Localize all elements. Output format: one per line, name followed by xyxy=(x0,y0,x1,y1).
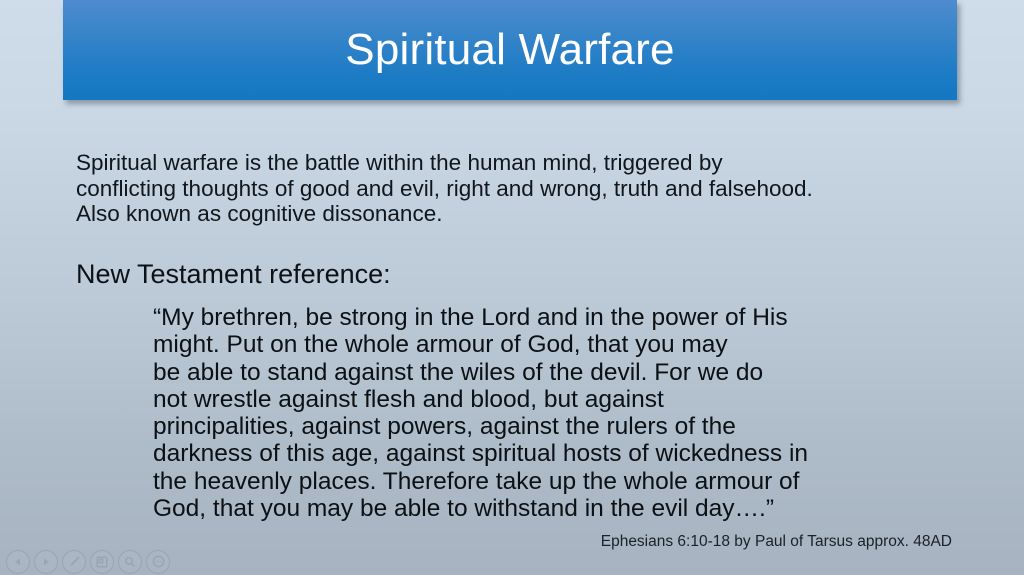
reference-heading: New Testament reference: xyxy=(76,258,391,290)
all-slides-button[interactable] xyxy=(90,550,114,574)
pen-icon xyxy=(68,555,81,568)
ellipsis-icon xyxy=(152,555,165,568)
pen-tool-button[interactable] xyxy=(62,550,86,574)
magnifier-icon xyxy=(124,556,136,568)
intro-paragraph: Spiritual warfare is the battle within t… xyxy=(76,150,866,227)
page-title: Spiritual Warfare xyxy=(345,28,674,72)
next-icon xyxy=(41,557,51,567)
previous-slide-button[interactable] xyxy=(6,550,30,574)
scripture-quote: “My brethren, be strong in the Lord and … xyxy=(153,304,953,522)
next-slide-button[interactable] xyxy=(34,550,58,574)
more-options-button[interactable] xyxy=(146,550,170,574)
slideshow-controls-bar xyxy=(0,548,192,575)
presentation-slide: Spiritual Warfare Spiritual warfare is t… xyxy=(0,0,1024,575)
zoom-button[interactable] xyxy=(118,550,142,574)
slides-grid-icon xyxy=(96,556,108,568)
slide-title-banner: Spiritual Warfare xyxy=(63,0,957,100)
previous-icon xyxy=(13,557,23,567)
scripture-attribution: Ephesians 6:10-18 by Paul of Tarsus appr… xyxy=(601,533,952,551)
